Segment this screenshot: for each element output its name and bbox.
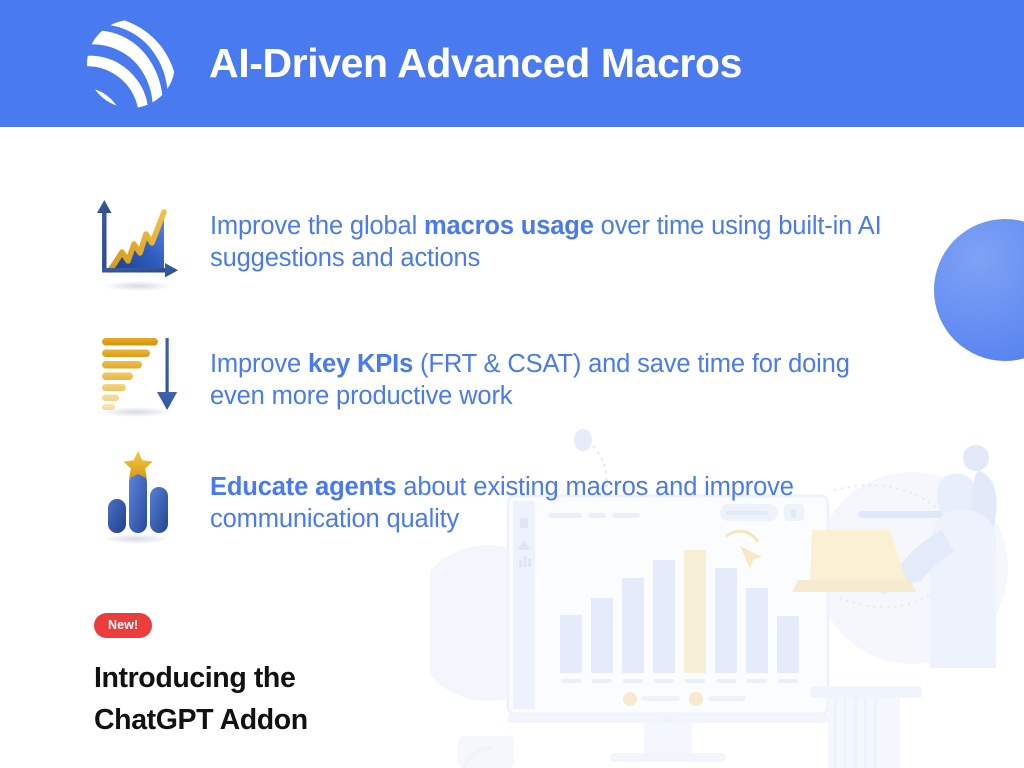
blue-sphere-decoration <box>934 219 1024 361</box>
feature-text-2-part-0: Improve <box>210 350 308 378</box>
status-badge-new: New! <box>94 613 152 638</box>
feature-text-1: Improve the global macros usage over tim… <box>210 192 910 274</box>
feature-text-2: Improve key KPIs (FRT & CSAT) and save t… <box>210 320 910 412</box>
slide-canvas: AI-Driven Advanced Macros <box>0 0 1024 768</box>
growth-chart-icon <box>84 192 188 296</box>
decreasing-bars-down-arrow-icon <box>84 320 188 424</box>
feature-item-macros-usage: Improve the global macros usage over tim… <box>84 192 910 296</box>
header-bar: AI-Driven Advanced Macros <box>0 0 1024 127</box>
feature-text-1-part-0: Improve the global <box>210 212 424 240</box>
feature-text-1-part-1: macros usage <box>424 212 594 240</box>
bar-chart-star-icon <box>84 447 188 551</box>
globe-swoosh-logo-icon <box>84 17 178 111</box>
callout-title-line-1: Introducing the <box>94 657 308 699</box>
chatgpt-addon-callout: New! Introducing the ChatGPT Addon <box>94 613 308 741</box>
feature-text-2-part-1: key KPIs <box>308 350 413 378</box>
page-title: AI-Driven Advanced Macros <box>209 0 742 127</box>
feature-text-3-part-0: Educate agents <box>210 473 396 501</box>
feature-text-3: Educate agents about existing macros and… <box>210 447 910 535</box>
callout-title: Introducing the ChatGPT Addon <box>94 657 308 741</box>
feature-item-key-kpis: Improve key KPIs (FRT & CSAT) and save t… <box>84 320 910 424</box>
callout-title-line-2: ChatGPT Addon <box>94 699 308 741</box>
feature-item-educate-agents: Educate agents about existing macros and… <box>84 447 910 551</box>
